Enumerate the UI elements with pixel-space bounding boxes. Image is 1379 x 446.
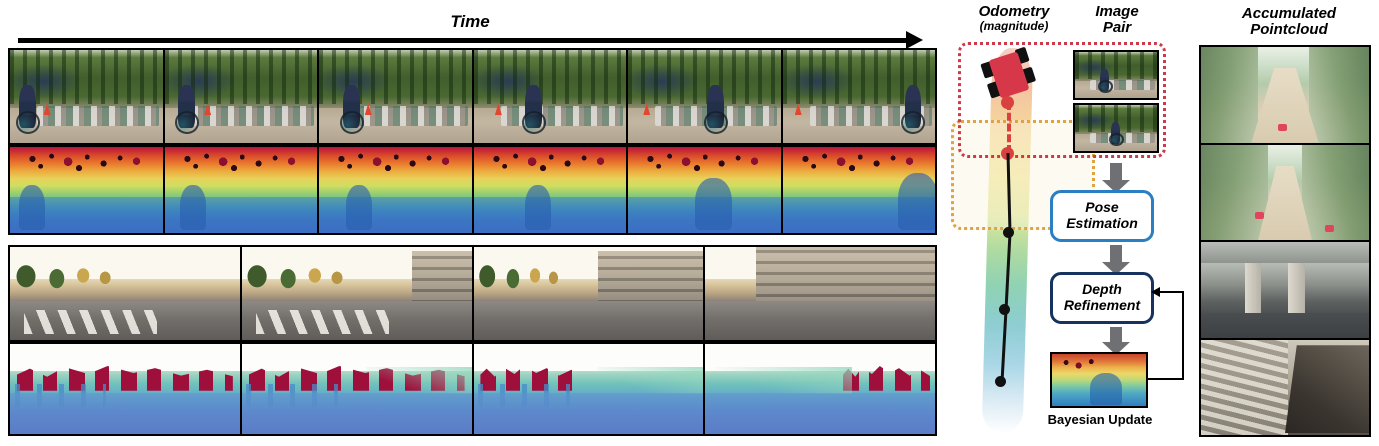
bayesian-update-depth-thumbnail[interactable] <box>1050 352 1148 408</box>
frame-rgb[interactable] <box>10 50 165 143</box>
depth-ground <box>705 393 935 434</box>
bicycle <box>340 111 364 134</box>
roadside-clutter <box>501 106 623 126</box>
bicycle <box>704 111 728 134</box>
frame-depth[interactable] <box>10 147 165 233</box>
trail-marker <box>1325 225 1334 232</box>
depth-noise <box>480 152 617 174</box>
vegetation-right <box>1302 145 1369 241</box>
pointcloud-brick-structure[interactable] <box>1201 340 1369 436</box>
roadside-clutter <box>192 106 314 126</box>
frame-rgb[interactable] <box>10 247 242 340</box>
odometry-node-past <box>999 304 1010 315</box>
frame-depth[interactable] <box>783 147 936 233</box>
depth-ground <box>10 393 240 434</box>
depth-rider-silhouette <box>19 185 45 230</box>
tree-line <box>478 256 570 295</box>
depth-ground <box>474 393 704 434</box>
building-facade <box>598 251 704 303</box>
trail-marker <box>1255 212 1264 219</box>
frame-depth[interactable] <box>705 344 935 434</box>
depth-rider-silhouette <box>346 185 372 230</box>
building <box>598 251 704 303</box>
road-surface <box>705 301 935 340</box>
depth-noise <box>325 152 462 174</box>
forest-depth-row <box>8 145 937 235</box>
tree-canopy <box>628 50 781 104</box>
pointcloud-concrete-underpass[interactable] <box>1201 242 1369 340</box>
road-surface <box>474 301 704 340</box>
depth-building-gradient <box>598 367 704 394</box>
accumulated-pointcloud-label-line2: Pointcloud <box>1205 22 1373 39</box>
pose-estimation-label: Pose Estimation <box>1066 200 1138 232</box>
pose-estimation-box[interactable]: Pose Estimation <box>1050 190 1154 242</box>
depth-rider-silhouette <box>180 185 206 230</box>
ceiling-beam <box>1201 242 1369 263</box>
tree-line <box>15 256 125 295</box>
frame-depth[interactable] <box>474 344 706 434</box>
odometry-node-current <box>1001 96 1014 109</box>
building <box>412 251 472 303</box>
frame-depth[interactable] <box>10 344 242 434</box>
bicycle <box>16 111 40 134</box>
odometry-node-past <box>1003 227 1014 238</box>
support-column <box>1245 263 1262 318</box>
depth-rider-silhouette <box>1090 373 1122 405</box>
frame-rgb[interactable] <box>474 50 629 143</box>
time-axis-arrow-line <box>18 38 908 43</box>
depth-refinement-label: Depth Refinement <box>1064 282 1140 314</box>
trail-marker <box>1278 124 1287 131</box>
frame-rgb[interactable] <box>474 247 706 340</box>
tree-canopy <box>319 50 472 104</box>
feedback-arrow-head <box>1151 287 1160 297</box>
tree-line <box>246 256 356 295</box>
depth-noise <box>171 152 308 174</box>
floor-surface <box>1201 313 1369 338</box>
crosswalk-markings <box>256 310 389 334</box>
depth-building-gradient <box>714 367 852 394</box>
shadowed-structure <box>1285 345 1369 433</box>
tree-canopy <box>474 50 627 104</box>
arrow-to-depth-refinement <box>1102 245 1130 275</box>
arrow-to-pose-estimation <box>1102 163 1130 193</box>
depth-rider-silhouette <box>525 185 551 230</box>
bayesian-update-label: Bayesian Update <box>1030 412 1170 427</box>
depth-ground <box>319 197 472 233</box>
urban-depth-row <box>8 342 937 436</box>
frame-depth[interactable] <box>242 344 474 434</box>
tree-canopy <box>1075 52 1157 79</box>
image-pair-frame-bottom[interactable] <box>1073 103 1159 153</box>
depth-building-gradient <box>366 367 472 394</box>
support-column <box>1288 263 1305 318</box>
vegetation-left <box>1201 47 1258 143</box>
depth-ground <box>242 393 472 434</box>
depth-rider-silhouette <box>695 178 732 230</box>
frame-rgb[interactable] <box>319 50 474 143</box>
forest-rgb-row <box>8 48 937 145</box>
bicycle <box>1098 80 1113 93</box>
depth-noise <box>16 152 153 174</box>
depth-sky <box>10 344 240 371</box>
roadside-clutter <box>37 106 159 126</box>
feedback-arrow-horizontal-top <box>1160 291 1184 293</box>
frame-rgb[interactable] <box>783 50 936 143</box>
building-facade <box>756 247 935 308</box>
frame-rgb[interactable] <box>242 247 474 340</box>
time-axis-label: Time <box>380 12 560 31</box>
image-pair-frame-top[interactable] <box>1073 50 1159 100</box>
frame-rgb[interactable] <box>628 50 783 143</box>
pointcloud-forest-trail-2[interactable] <box>1201 145 1369 243</box>
depth-refinement-box[interactable]: Depth Refinement <box>1050 272 1154 324</box>
feedback-arrow-horizontal-bottom <box>1148 378 1184 380</box>
frame-depth[interactable] <box>165 147 320 233</box>
frame-depth[interactable] <box>319 147 474 233</box>
urban-rgb-row <box>8 245 937 342</box>
building <box>756 247 935 308</box>
odometry-sublabel: (magnitude) <box>955 20 1073 33</box>
bicycle <box>175 111 199 134</box>
accumulated-pointcloud-grid <box>1199 45 1371 437</box>
frame-depth[interactable] <box>628 147 783 233</box>
building-facade <box>412 251 472 303</box>
pointcloud-forest-trail-1[interactable] <box>1201 47 1369 145</box>
depth-noise <box>789 152 926 174</box>
bicycle <box>901 111 925 134</box>
brick-wall <box>1201 340 1288 436</box>
crosswalk-markings <box>24 310 157 334</box>
vegetation-right <box>1309 47 1369 143</box>
vegetation-left <box>1201 145 1268 241</box>
odometry-node-past <box>995 376 1006 387</box>
bicycle <box>522 111 546 134</box>
frame-rgb[interactable] <box>705 247 935 340</box>
time-axis-arrow-head <box>906 31 923 49</box>
frame-depth[interactable] <box>474 147 629 233</box>
feedback-arrow-vertical <box>1182 291 1184 380</box>
depth-noise <box>1058 358 1103 373</box>
depth-rider-silhouette <box>898 173 935 230</box>
roadside-clutter <box>346 106 468 126</box>
depth-noise <box>634 152 771 174</box>
arrow-to-bayesian-update <box>1102 327 1130 355</box>
image-pair-label-line2: Pair <box>1072 20 1162 37</box>
frame-rgb[interactable] <box>165 50 320 143</box>
past-odometry-path <box>985 145 1045 395</box>
